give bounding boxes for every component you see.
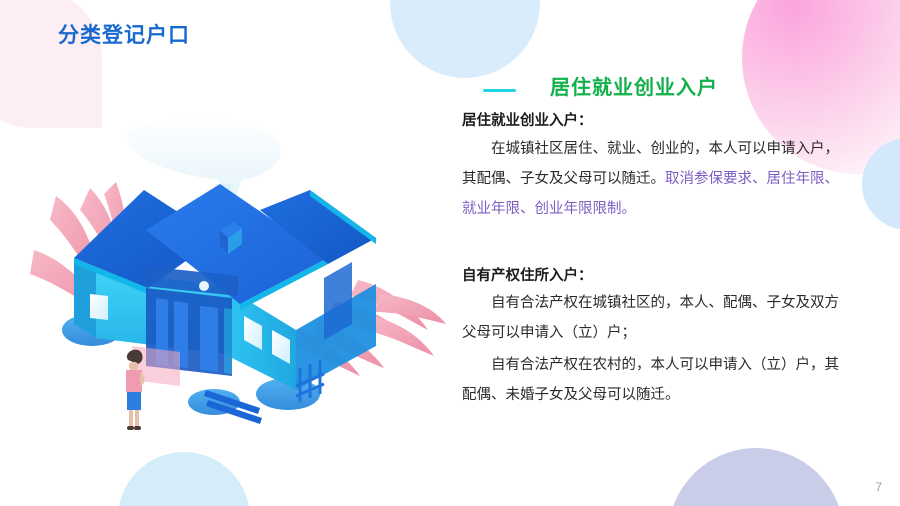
sub-heading-1: 居住就业创业入户： [462,111,840,131]
isometric-house-illustration [28,118,448,448]
decor-blue-circle-right [862,138,900,230]
section-heading: 居住就业创业入户 [550,71,718,100]
paragraph-3: 自有合法产权在农村的，本人可以申请入（立）户，其配偶、未婚子女及父母可以随迁。 [462,350,840,410]
paragraph-2: 自有合法产权在城镇社区的，本人、配偶、子女及双方父母可以申请入（立）户； [462,288,840,348]
decor-blue-circle-bottom-left [118,452,250,506]
page-title: 分类登记户口 [58,19,190,49]
section-heading-row: 居住就业创业入户 [462,64,840,98]
page-number: 7 [875,480,882,494]
content-column: 居住就业创业入户 居住就业创业入户： 在城镇社区居住、就业、创业的，本人可以申请… [462,64,840,410]
block-residence-employment: 居住就业创业入户： 在城镇社区居住、就业、创业的，本人可以申请入户，其配偶、子女… [462,111,840,224]
window-left [90,294,108,320]
paragraph-1: 在城镇社区居住、就业、创业的，本人可以申请入户，其配偶、子女及父母可以随迁。取消… [462,134,840,224]
sub-heading-2: 自有产权住所入户： [462,266,840,286]
door-side-glass [200,306,218,372]
porch-light [199,281,209,291]
decor-lavender-circle-bottom [668,448,844,506]
dash-marker-icon [483,89,516,92]
block-property-ownership: 自有产权住所入户： 自有合法产权在城镇社区的，本人、配偶、子女及双方父母可以申请… [462,266,840,410]
slide-canvas: 分类登记户口 [0,0,900,506]
